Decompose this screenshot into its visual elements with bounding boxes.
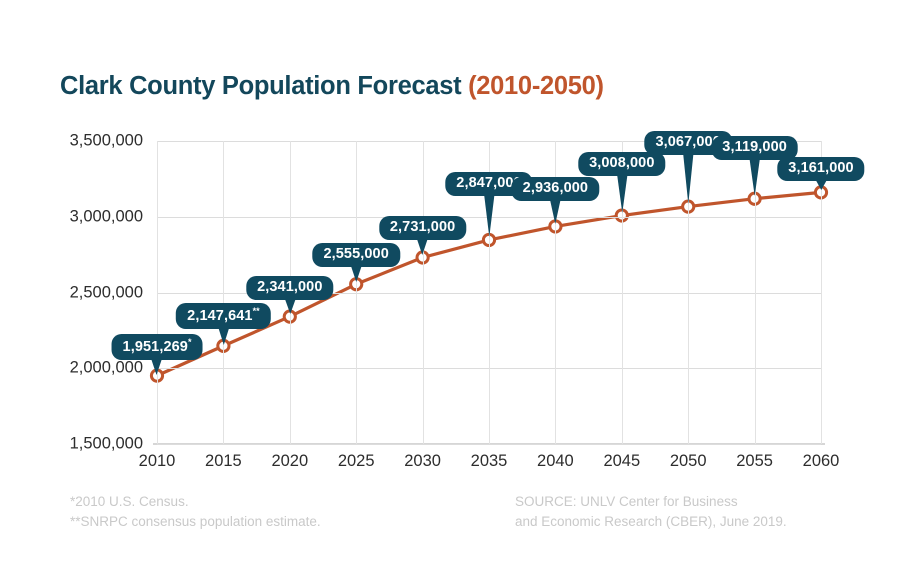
y-axis-tick-label: 3,000,000 bbox=[23, 207, 143, 226]
footnotes-source: SOURCE: UNLV Center for Business and Eco… bbox=[515, 492, 787, 531]
y-axis-tick-label: 1,500,000 bbox=[23, 435, 143, 454]
footnote-snrpc: **SNRPC consensus population estimate. bbox=[70, 512, 321, 532]
data-point-callout: 2,147,641** bbox=[176, 303, 270, 329]
data-point-callout: 2,731,000 bbox=[379, 216, 466, 240]
data-point-label: 2,936,000 bbox=[512, 177, 599, 201]
y-axis-tick-label: 3,500,000 bbox=[23, 132, 143, 151]
source-line-2: and Economic Research (CBER), June 2019. bbox=[515, 512, 787, 532]
data-point-label: 2,731,000 bbox=[379, 216, 466, 240]
x-axis: 2010201520202025203020352040204520502055… bbox=[157, 452, 821, 476]
callout-pointer-icon bbox=[550, 201, 560, 224]
footnote-marker: ** bbox=[253, 306, 260, 316]
chart-figure: Clark County Population Forecast (2010-2… bbox=[0, 0, 900, 584]
title-range-text: (2010-2050) bbox=[468, 72, 604, 100]
callout-pointer-icon bbox=[816, 181, 826, 190]
callout-pointer-icon bbox=[351, 267, 361, 282]
data-point-callout: 3,161,000 bbox=[777, 157, 864, 181]
data-point-label: 2,555,000 bbox=[312, 243, 399, 267]
data-point-label: 3,008,000 bbox=[578, 152, 665, 176]
data-point-callout: 2,555,000 bbox=[312, 243, 399, 267]
footnote-census: *2010 U.S. Census. bbox=[70, 492, 321, 512]
title-main-text: Clark County Population Forecast bbox=[60, 72, 461, 100]
data-point-callout: 1,951,269* bbox=[112, 334, 203, 360]
data-point-label: 2,341,000 bbox=[246, 276, 333, 300]
callout-pointer-icon bbox=[218, 329, 228, 345]
data-point-label: 1,951,269* bbox=[112, 334, 203, 360]
gridline-vertical bbox=[356, 141, 357, 444]
footnotes-left: *2010 U.S. Census. **SNRPC consensus pop… bbox=[70, 492, 321, 531]
x-axis-tick-label: 2060 bbox=[781, 452, 861, 471]
callout-pointer-icon bbox=[285, 300, 295, 314]
callout-pointer-icon bbox=[152, 360, 162, 375]
gridline-horizontal bbox=[157, 444, 821, 445]
data-point-label: 2,147,641** bbox=[176, 303, 270, 329]
callout-pointer-icon bbox=[617, 176, 627, 213]
callout-pointer-icon bbox=[484, 196, 494, 237]
y-axis-tick-label: 2,000,000 bbox=[23, 359, 143, 378]
callout-pointer-icon bbox=[750, 160, 760, 196]
callout-pointer-icon bbox=[418, 240, 428, 255]
data-point-callout: 2,936,000 bbox=[512, 177, 599, 201]
footnote-marker: * bbox=[188, 337, 192, 347]
gridline-vertical bbox=[157, 141, 158, 444]
y-axis: 1,500,0002,000,0002,500,0003,000,0003,50… bbox=[18, 141, 143, 444]
data-point-callout: 3,008,000 bbox=[578, 152, 665, 176]
data-point-callout: 2,341,000 bbox=[246, 276, 333, 300]
source-line-1: SOURCE: UNLV Center for Business bbox=[515, 492, 787, 512]
data-point-label: 3,161,000 bbox=[777, 157, 864, 181]
y-axis-tick-label: 2,500,000 bbox=[23, 283, 143, 302]
gridline-vertical bbox=[423, 141, 424, 444]
gridline-vertical bbox=[223, 141, 224, 444]
callout-pointer-icon bbox=[683, 155, 693, 204]
page-title: Clark County Population Forecast (2010-2… bbox=[60, 72, 604, 101]
